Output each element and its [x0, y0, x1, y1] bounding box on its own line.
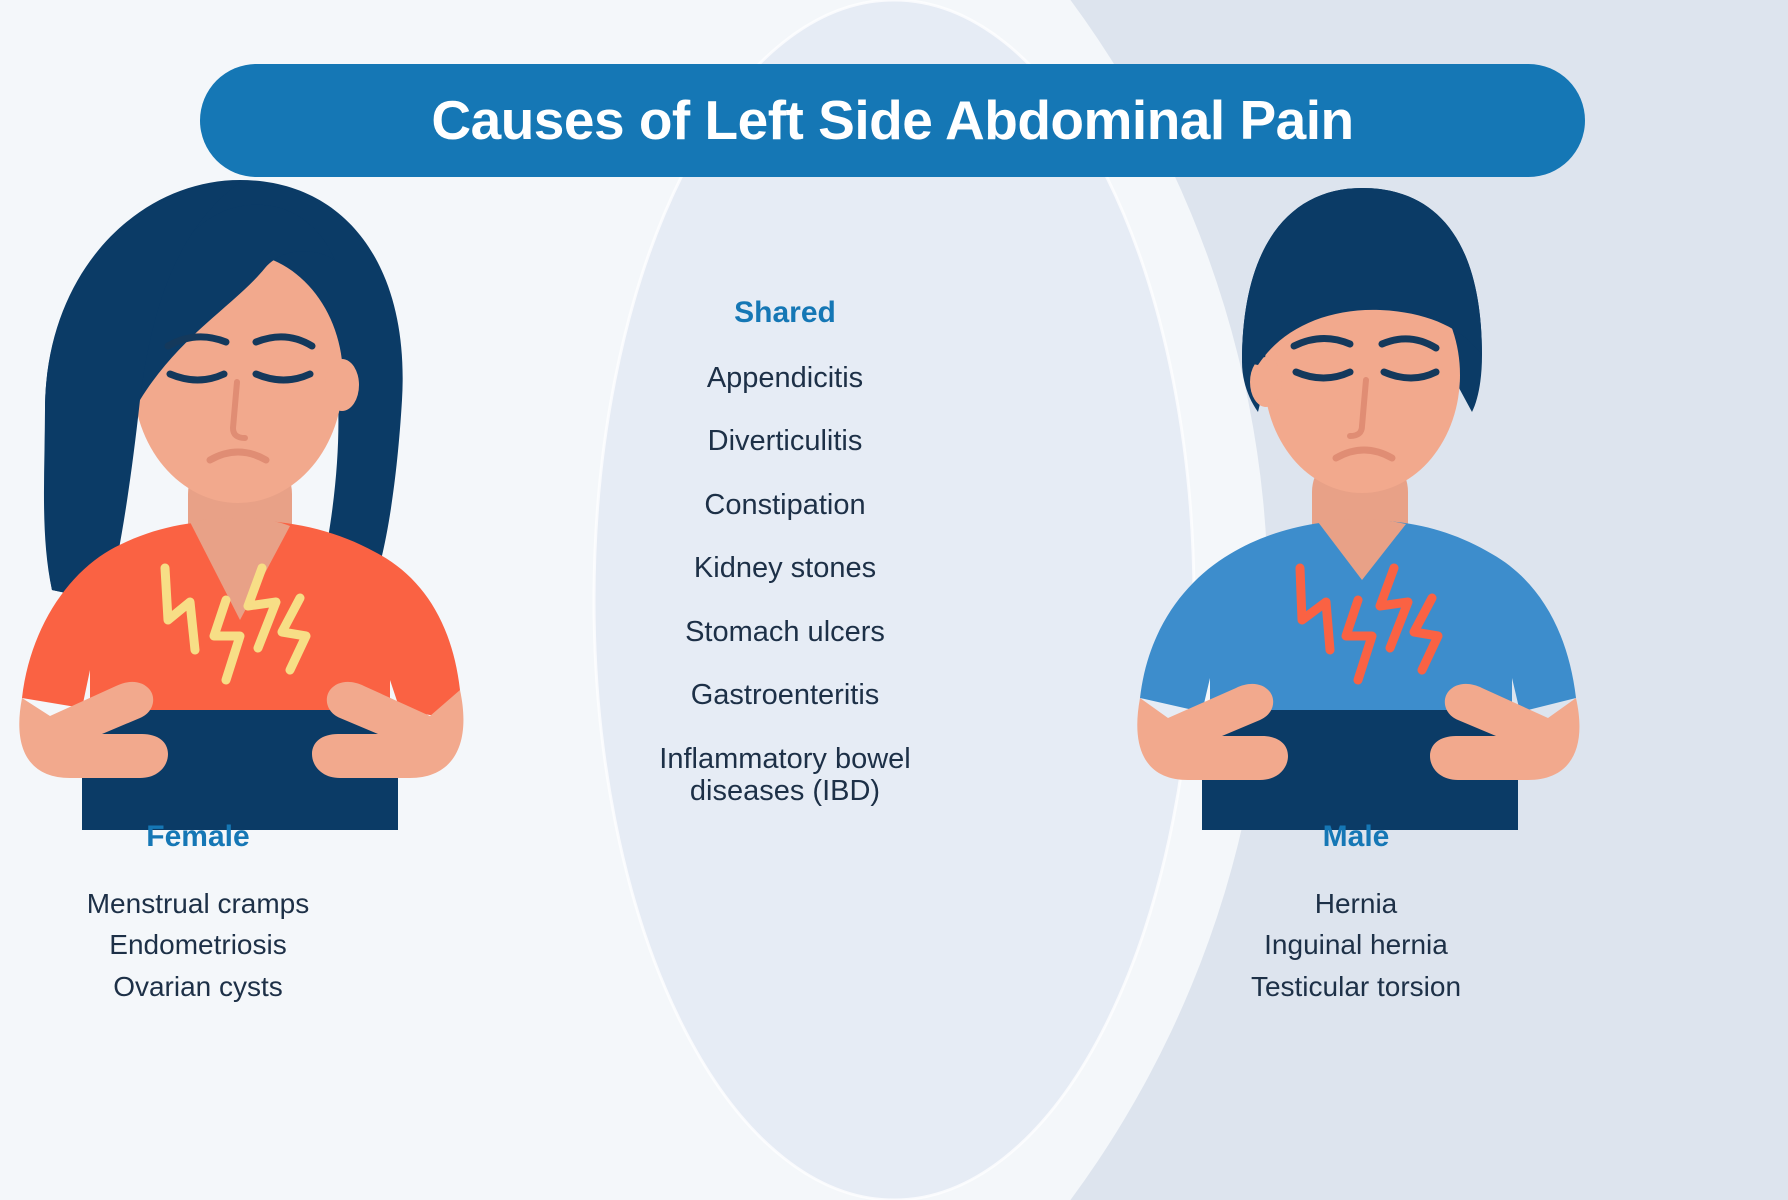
male-illustration — [1090, 150, 1610, 830]
male-ear — [1250, 357, 1282, 407]
shared-item-ibd: Inflammatory bowel diseases (IBD) — [570, 743, 1000, 808]
shared-item-appendicitis: Appendicitis — [570, 362, 1000, 394]
shared-item-kidney-stones: Kidney stones — [570, 552, 1000, 584]
male-item-inguinal-hernia: Inguinal hernia — [1146, 924, 1566, 965]
infographic-root: Causes of Left Side Abdominal Pain — [0, 0, 1788, 1200]
shared-item-stomach-ulcers: Stomach ulcers — [570, 616, 1000, 648]
male-item-testicular-torsion: Testicular torsion — [1146, 966, 1566, 1007]
shared-item-gastroenteritis: Gastroenteritis — [570, 679, 1000, 711]
female-item-menstrual-cramps: Menstrual cramps — [0, 883, 408, 924]
shared-item-constipation: Constipation — [570, 489, 1000, 521]
female-ear — [325, 359, 359, 411]
page-title: Causes of Left Side Abdominal Pain — [431, 93, 1353, 148]
female-item-endometriosis: Endometriosis — [0, 924, 408, 965]
shared-column: Shared Appendicitis Diverticulitis Const… — [570, 296, 1000, 808]
shared-item-diverticulitis: Diverticulitis — [570, 425, 1000, 457]
male-heading: Male — [1146, 820, 1566, 854]
male-column: Male Hernia Inguinal hernia Testicular t… — [1146, 820, 1566, 1007]
female-heading: Female — [0, 820, 408, 854]
title-banner: Causes of Left Side Abdominal Pain — [200, 64, 1585, 177]
female-column: Female Menstrual cramps Endometriosis Ov… — [0, 820, 408, 1007]
male-item-hernia: Hernia — [1146, 883, 1566, 924]
female-item-ovarian-cysts: Ovarian cysts — [0, 966, 408, 1007]
female-illustration — [0, 150, 490, 830]
shared-heading: Shared — [570, 296, 1000, 330]
